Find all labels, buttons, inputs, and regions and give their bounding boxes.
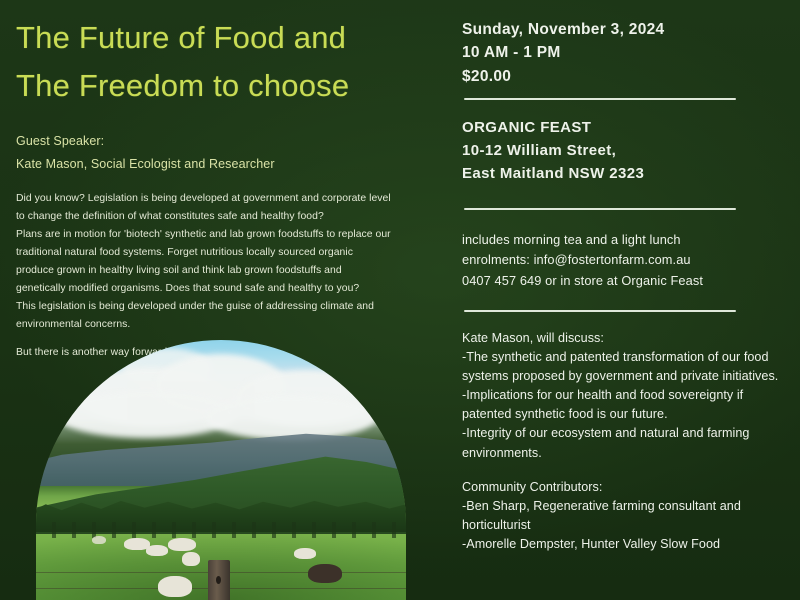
grazing-animal xyxy=(294,548,316,559)
venue-address: ORGANIC FEAST 10-12 William Street, East… xyxy=(462,116,786,186)
grazing-animal xyxy=(308,564,342,583)
grazing-animal xyxy=(168,538,196,551)
grazing-animal xyxy=(92,536,106,544)
grazing-animal xyxy=(182,552,200,566)
page-title: The Future of Food and The Freedom to ch… xyxy=(16,14,434,110)
event-poster: The Future of Food and The Freedom to ch… xyxy=(0,0,800,600)
enrolment-info: includes morning tea and a light lunch e… xyxy=(462,230,786,292)
grazing-animal xyxy=(146,545,168,556)
guest-speaker-label: Guest Speaker: xyxy=(16,130,434,153)
farm-photo xyxy=(36,340,406,600)
farm-photo-image xyxy=(36,340,406,600)
divider xyxy=(464,98,736,100)
cloud-icon xyxy=(206,396,376,440)
guest-speaker-name: Kate Mason, Social Ecologist and Researc… xyxy=(16,153,434,176)
guest-speaker-block: Guest Speaker: Kate Mason, Social Ecolog… xyxy=(16,130,434,176)
right-column: Sunday, November 3, 2024 10 AM - 1 PM $2… xyxy=(462,0,800,600)
discussion-topics: Kate Mason, will discuss: -The synthetic… xyxy=(462,329,786,463)
body-paragraph: Did you know? Legislation is being devel… xyxy=(16,190,391,333)
divider xyxy=(464,208,736,210)
divider xyxy=(464,310,736,312)
event-details: Sunday, November 3, 2024 10 AM - 1 PM $2… xyxy=(462,18,786,88)
grazing-animal xyxy=(158,576,192,597)
fence-post xyxy=(208,560,230,600)
community-contributors: Community Contributors: -Ben Sharp, Rege… xyxy=(462,478,786,555)
tree-trunks xyxy=(36,522,406,538)
